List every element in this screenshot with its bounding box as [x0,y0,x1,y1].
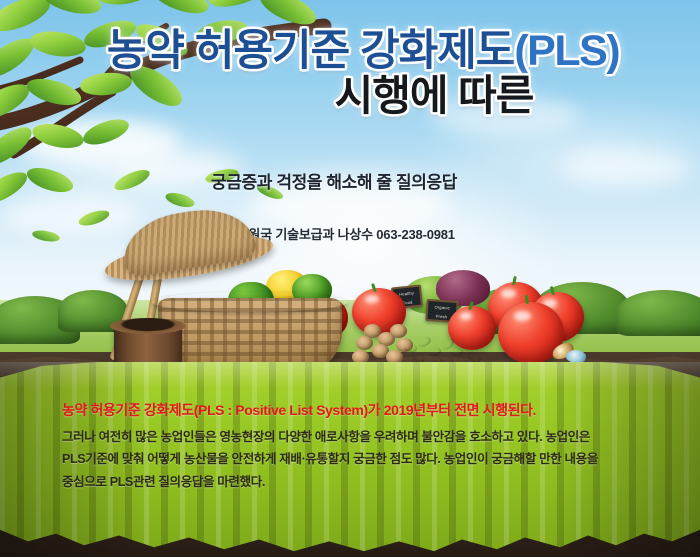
subtitle: 궁금증과 걱정을 해소해 줄 질의응답 [0,168,700,193]
headline-block: 농약 허용기준 강화제도(PLS) 시행에 따른 [0,28,700,119]
pls-poster: 농약 허용기준 강화제도(PLS) 시행에 따른 궁금증과 걱정을 해소해 줄 … [0,0,700,557]
tomato [448,306,496,350]
headline-line-2: 시행에 따른 [0,72,700,119]
basket-rim [152,292,348,312]
straw-hat-crown [118,202,257,278]
bucket-rim [110,318,186,334]
body-paragraph-line-3: 중심으로 PLS관련 질의응답을 마련했다. [62,471,644,493]
headline-line-1: 농약 허용기준 강화제도(PLS) [0,28,700,74]
body-paragraph-line-1: 그러나 여전히 많은 농업인들은 영농현장의 다양한 애로사항을 우려하며 불안… [62,426,644,448]
body-heading: 농약 허용기준 강화제도(PLS : Positive List System)… [62,400,644,420]
body-paragraph-line-2: PLS기준에 맞춰 어떻게 농산물을 안전하게 재배·유통할지 궁금한 점도 많… [62,448,644,470]
headline-pls-abbrev: (PLS) [514,27,619,75]
body-copy-block: 농약 허용기준 강화제도(PLS : Positive List System)… [62,400,644,493]
hedge-bush [616,290,700,336]
headline-line-1-korean: 농약 허용기준 강화제도 [107,27,515,75]
